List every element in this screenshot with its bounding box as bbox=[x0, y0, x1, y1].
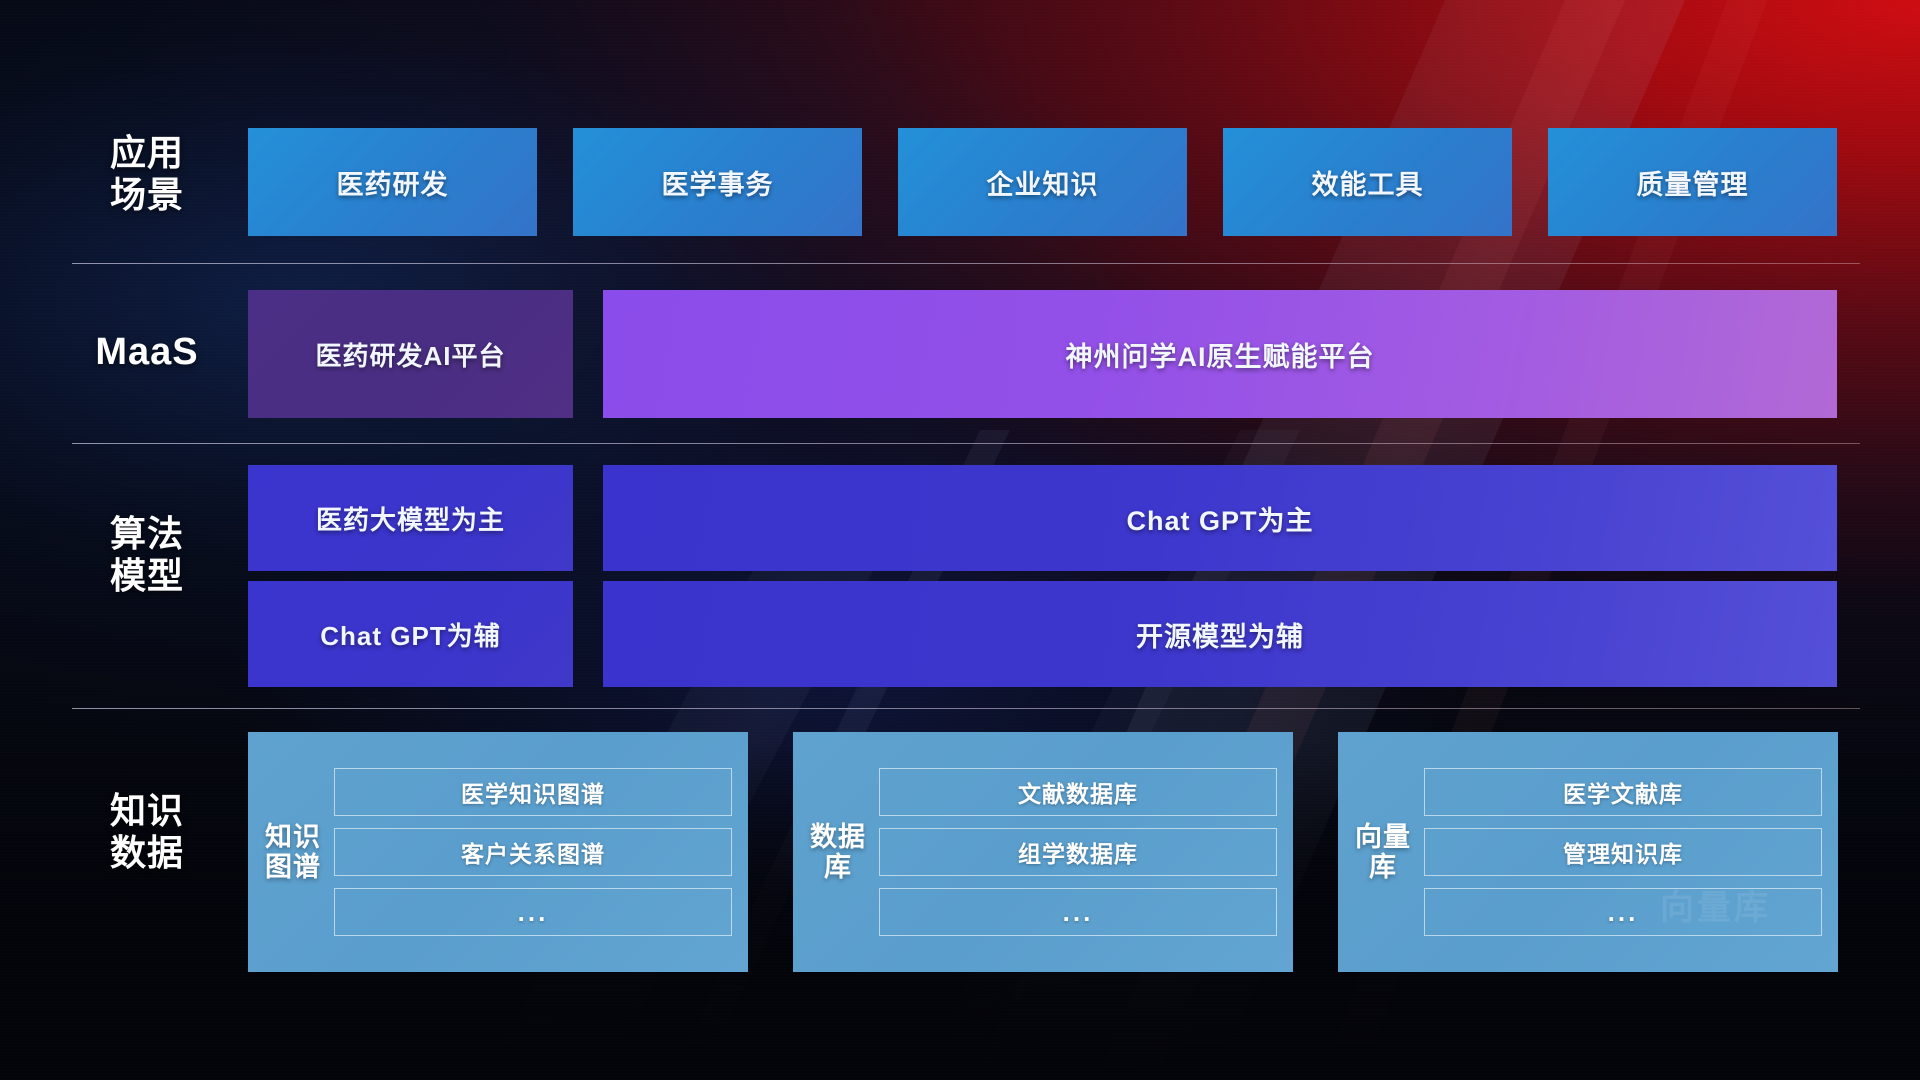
divider-algorithm-knowledge bbox=[72, 708, 1860, 709]
knowledge-group-database-items: 文献数据库 组学数据库 ... bbox=[879, 768, 1277, 936]
row-label-algorithm: 算法 模型 bbox=[62, 513, 232, 598]
knowledge-item-omics-db[interactable]: 组学数据库 bbox=[879, 828, 1277, 876]
divider-maas-algorithm bbox=[72, 443, 1860, 444]
maas-box-pharma-ai-platform[interactable]: 医药研发AI平台 bbox=[248, 290, 573, 418]
knowledge-group-graph-items: 医学知识图谱 客户关系图谱 ... bbox=[334, 768, 732, 936]
app-box-efficiency-tools[interactable]: 效能工具 bbox=[1223, 128, 1512, 236]
app-box-medical-affairs[interactable]: 医学事务 bbox=[573, 128, 862, 236]
algo-box-chatgpt-primary-label: Chat GPT为主 bbox=[1126, 499, 1313, 538]
row-label-knowledge: 知识 数据 bbox=[62, 790, 232, 875]
knowledge-group-vector-title: 向量库 bbox=[1352, 822, 1414, 882]
row-label-maas-line1: MaaS bbox=[95, 331, 198, 373]
algo-box-opensource-secondary-label: 开源模型为辅 bbox=[1136, 615, 1304, 654]
algo-box-chatgpt-secondary[interactable]: Chat GPT为辅 bbox=[248, 581, 573, 687]
knowledge-item-medical-graph[interactable]: 医学知识图谱 bbox=[334, 768, 732, 816]
knowledge-group-graph-title: 知识图谱 bbox=[262, 822, 324, 882]
algo-box-chatgpt-secondary-label: Chat GPT为辅 bbox=[320, 616, 500, 653]
app-box-pharma-rnd[interactable]: 医药研发 bbox=[248, 128, 537, 236]
row-label-knowledge-line1: 知识 bbox=[110, 790, 184, 831]
app-box-enterprise-knowledge[interactable]: 企业知识 bbox=[898, 128, 1187, 236]
row-label-maas: MaaS bbox=[62, 330, 232, 375]
app-box-quality-management-label: 质量管理 bbox=[1637, 163, 1749, 202]
knowledge-group-database: 数据库 文献数据库 组学数据库 ... bbox=[793, 732, 1293, 972]
knowledge-item-management-knowledge[interactable]: 管理知识库 bbox=[1424, 828, 1822, 876]
maas-box-pharma-ai-platform-label: 医药研发AI平台 bbox=[315, 336, 505, 373]
knowledge-group-database-title: 数据库 bbox=[807, 822, 869, 882]
row-label-application-line1: 应用 bbox=[110, 132, 184, 173]
algo-box-pharma-llm-primary-label: 医药大模型为主 bbox=[316, 500, 505, 537]
row-label-application-line2: 场景 bbox=[62, 174, 232, 216]
knowledge-group-graph: 知识图谱 医学知识图谱 客户关系图谱 ... bbox=[248, 732, 748, 972]
maas-box-shenzhou-wenxue-platform-label: 神州问学AI原生赋能平台 bbox=[1066, 335, 1375, 374]
knowledge-item-customer-graph[interactable]: 客户关系图谱 bbox=[334, 828, 732, 876]
knowledge-item-medical-literature[interactable]: 医学文献库 bbox=[1424, 768, 1822, 816]
row-label-knowledge-line2: 数据 bbox=[62, 832, 232, 874]
app-box-pharma-rnd-label: 医药研发 bbox=[337, 163, 449, 202]
knowledge-item-vector-more[interactable]: ... bbox=[1424, 888, 1822, 936]
app-box-enterprise-knowledge-label: 企业知识 bbox=[987, 163, 1099, 202]
knowledge-item-graph-more[interactable]: ... bbox=[334, 888, 732, 936]
algo-box-pharma-llm-primary[interactable]: 医药大模型为主 bbox=[248, 465, 573, 571]
row-label-algorithm-line2: 模型 bbox=[62, 555, 232, 597]
row-label-application: 应用 场景 bbox=[62, 132, 232, 217]
app-box-medical-affairs-label: 医学事务 bbox=[662, 163, 774, 202]
maas-box-shenzhou-wenxue-platform[interactable]: 神州问学AI原生赋能平台 bbox=[603, 290, 1837, 418]
knowledge-group-vector: 向量库 医学文献库 管理知识库 ... bbox=[1338, 732, 1838, 972]
knowledge-item-literature-db[interactable]: 文献数据库 bbox=[879, 768, 1277, 816]
knowledge-item-database-more[interactable]: ... bbox=[879, 888, 1277, 936]
diagram-stage: 应用 场景 医药研发 医学事务 企业知识 效能工具 质量管理 MaaS 医药研发… bbox=[0, 0, 1920, 1080]
algo-box-chatgpt-primary[interactable]: Chat GPT为主 bbox=[603, 465, 1837, 571]
row-label-algorithm-line1: 算法 bbox=[110, 513, 184, 554]
knowledge-group-vector-items: 医学文献库 管理知识库 ... bbox=[1424, 768, 1822, 936]
divider-application-maas bbox=[72, 263, 1860, 264]
app-box-quality-management[interactable]: 质量管理 bbox=[1548, 128, 1837, 236]
app-box-efficiency-tools-label: 效能工具 bbox=[1312, 163, 1424, 202]
algo-box-opensource-secondary[interactable]: 开源模型为辅 bbox=[603, 581, 1837, 687]
